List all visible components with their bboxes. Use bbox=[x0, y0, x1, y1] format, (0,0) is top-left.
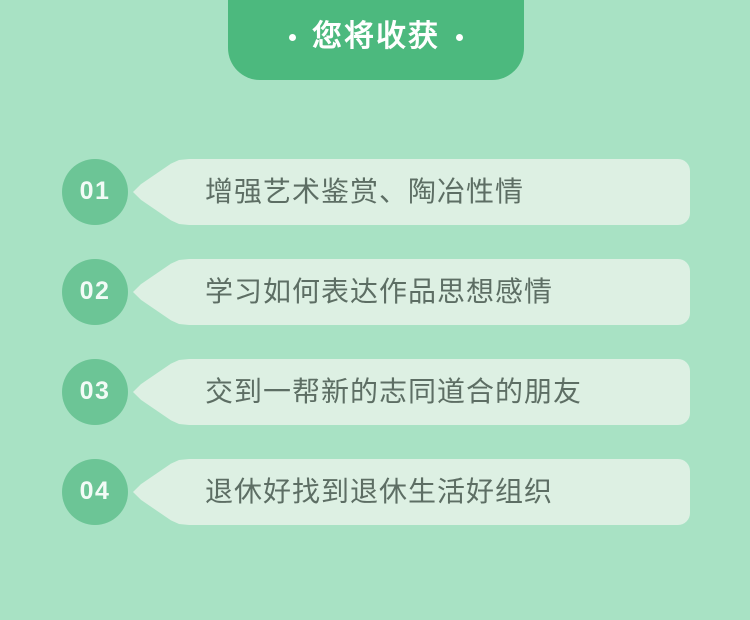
item-text-label: 增强艺术鉴赏、陶冶性情 bbox=[205, 178, 524, 206]
benefits-list: 01 增强艺术鉴赏、陶冶性情 02 学习如何表达作品思想感情 03 交到一帮新的… bbox=[0, 159, 750, 525]
item-card: 退休好找到退休生活好组织 bbox=[133, 459, 690, 525]
list-item: 02 学习如何表达作品思想感情 bbox=[0, 259, 750, 325]
list-item: 01 增强艺术鉴赏、陶冶性情 bbox=[0, 159, 750, 225]
item-text-label: 交到一帮新的志同道合的朋友 bbox=[205, 378, 582, 406]
item-number-label: 02 bbox=[80, 279, 111, 304]
item-number-badge: 04 bbox=[62, 459, 128, 525]
item-card: 交到一帮新的志同道合的朋友 bbox=[133, 359, 690, 425]
item-number-badge: 02 bbox=[62, 259, 128, 325]
item-number-badge: 03 bbox=[62, 359, 128, 425]
page-title: 您将收获 bbox=[312, 22, 440, 52]
item-card: 学习如何表达作品思想感情 bbox=[133, 259, 690, 325]
item-text-label: 学习如何表达作品思想感情 bbox=[205, 278, 553, 306]
item-number-label: 04 bbox=[80, 479, 111, 504]
item-number-label: 01 bbox=[80, 179, 111, 204]
dot-ornament-right-icon bbox=[456, 34, 463, 41]
item-card: 增强艺术鉴赏、陶冶性情 bbox=[133, 159, 690, 225]
banner-content: 您将收获 bbox=[289, 22, 463, 52]
dot-ornament-left-icon bbox=[289, 34, 296, 41]
list-item: 03 交到一帮新的志同道合的朋友 bbox=[0, 359, 750, 425]
item-text-label: 退休好找到退休生活好组织 bbox=[205, 478, 553, 506]
section-header-banner: 您将收获 bbox=[228, 0, 524, 80]
item-number-badge: 01 bbox=[62, 159, 128, 225]
benefits-poster: 您将收获 01 增强艺术鉴赏、陶冶性情 02 学习如何表达作品思想感情 03 bbox=[0, 0, 750, 620]
list-item: 04 退休好找到退休生活好组织 bbox=[0, 459, 750, 525]
item-number-label: 03 bbox=[80, 379, 111, 404]
